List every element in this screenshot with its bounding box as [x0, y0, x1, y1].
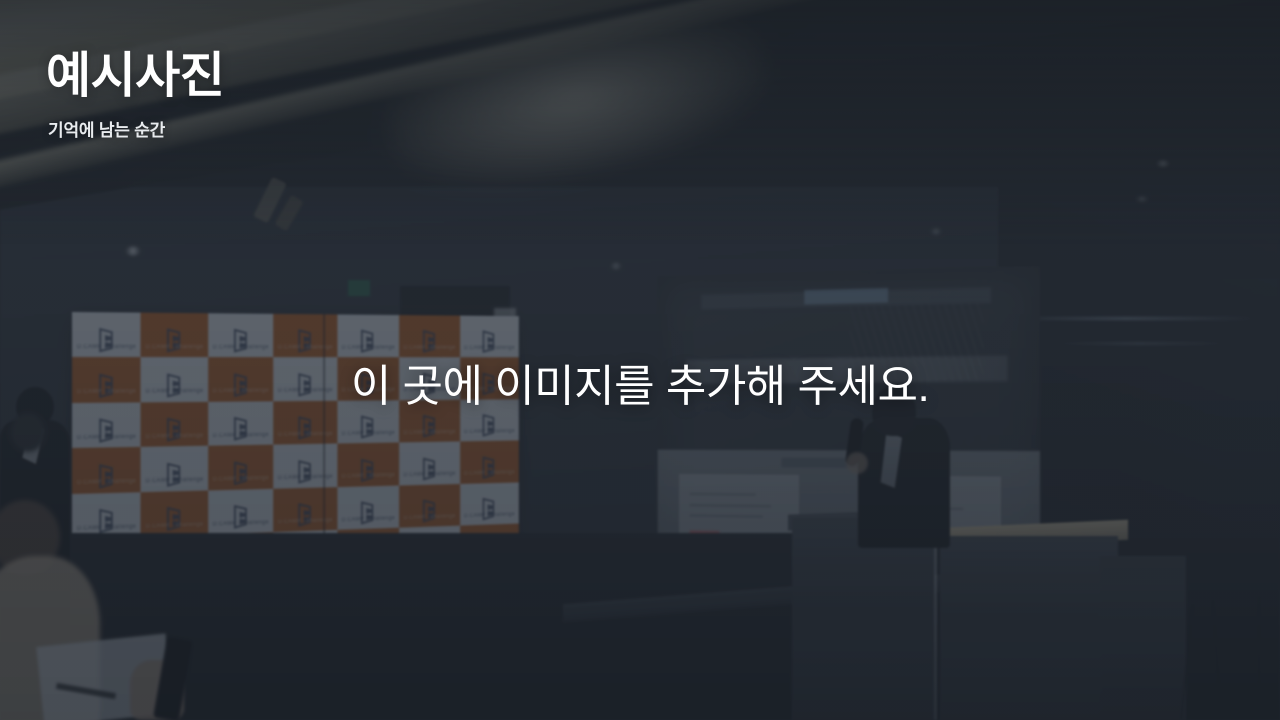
- page-subtitle: 기억에 남는 순간: [48, 116, 224, 141]
- page-title: 예시사진: [46, 48, 224, 106]
- placeholder-instruction-text: 이 곳에 이미지를 추가해 주세요.: [351, 350, 929, 414]
- image-drop-zone[interactable]: 이 곳에 이미지를 추가해 주세요.: [0, 350, 1280, 414]
- caption-block: 예시사진 기억에 남는 순간: [46, 48, 224, 141]
- image-placeholder-card[interactable]: D.CAMP · challengeD.CAMP · challengeD.CA…: [0, 0, 1280, 720]
